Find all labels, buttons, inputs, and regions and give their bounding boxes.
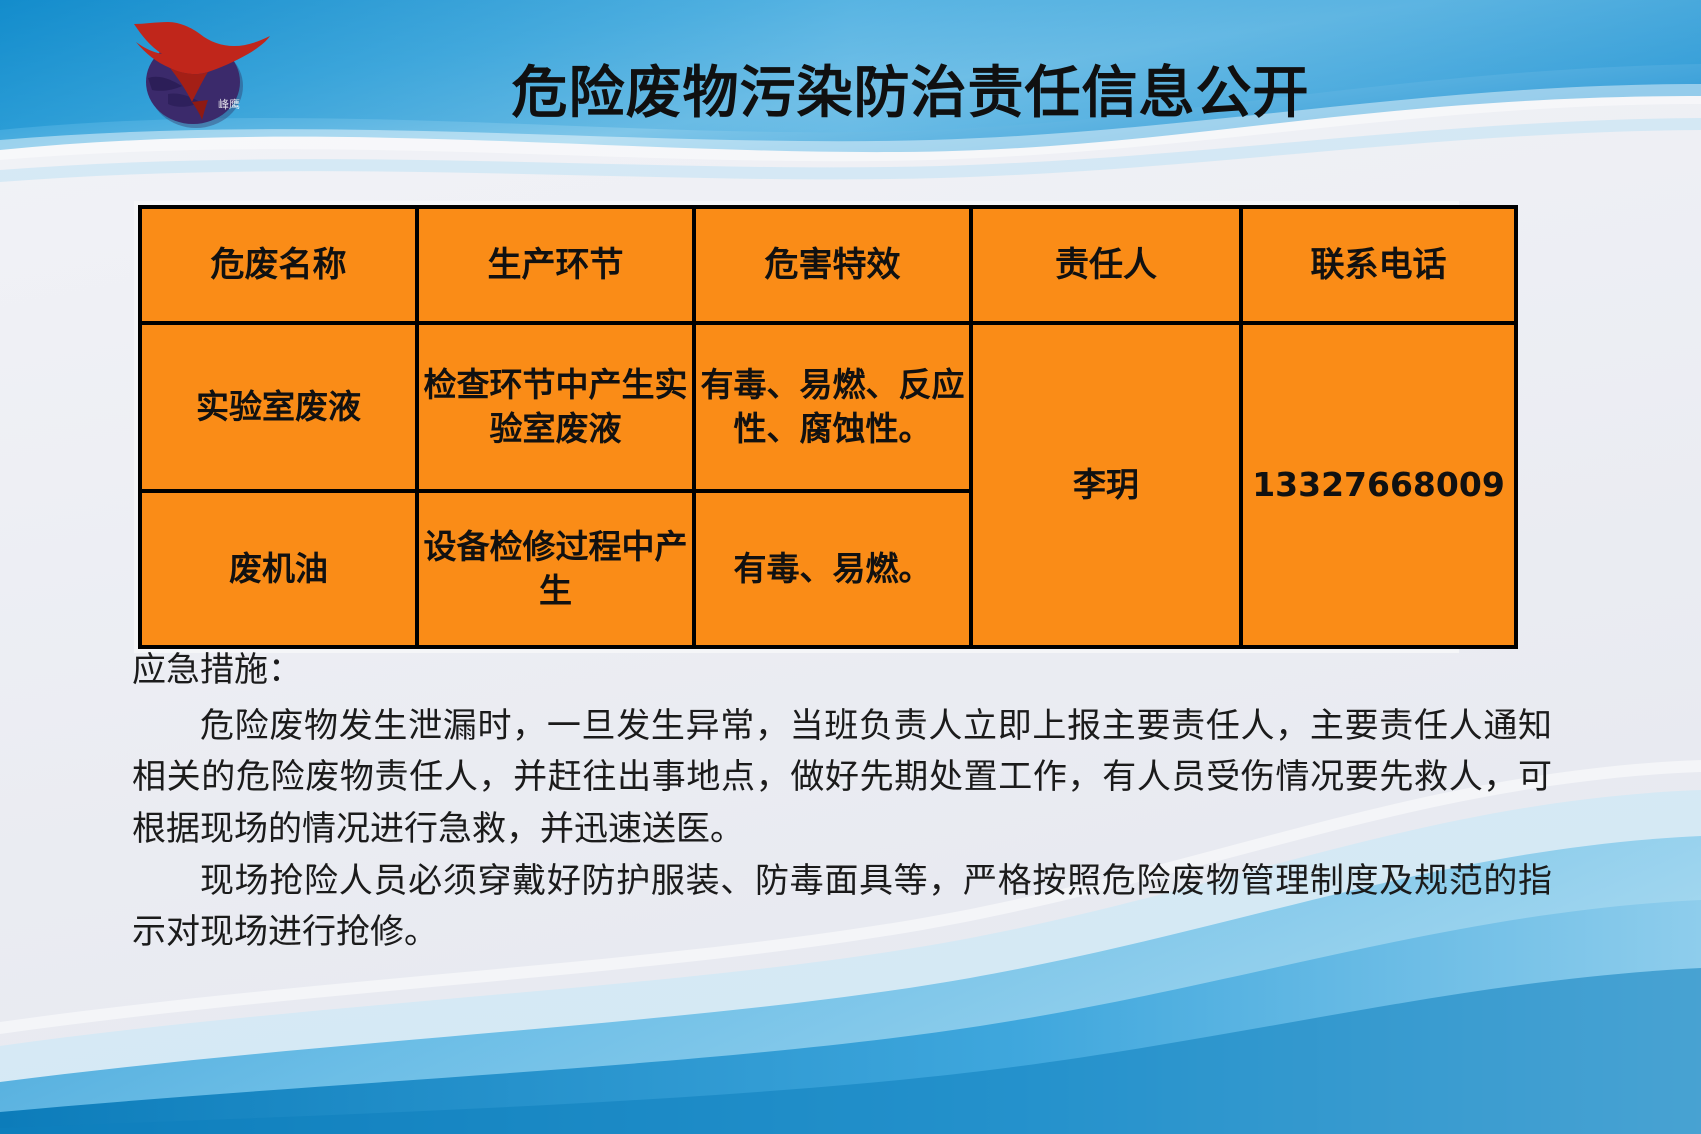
cell-contact-phone: 13327668009: [1241, 323, 1516, 647]
cell-waste-stage: 设备检修过程中产生: [417, 491, 694, 647]
emergency-heading: 应急措施：: [132, 645, 1552, 697]
slide: 峰鹰 危险废物污染防治责任信息公开 危废名称 生产环节 危害特效 责任人 联系电…: [0, 0, 1701, 1134]
column-header-name: 危废名称: [140, 207, 417, 323]
cell-waste-hazard: 有毒、易燃。: [694, 491, 971, 647]
cell-waste-hazard: 有毒、易燃、反应性、腐蚀性。: [694, 323, 971, 491]
hazardous-waste-table: 危废名称 生产环节 危害特效 责任人 联系电话 实验室废液 检查环节中产生实验室…: [138, 205, 1518, 649]
column-header-hazard: 危害特效: [694, 207, 971, 323]
page-title: 危险废物污染防治责任信息公开: [0, 48, 1701, 129]
table-row: 实验室废液 检查环节中产生实验室废液 有毒、易燃、反应性、腐蚀性。 李玥 133…: [140, 323, 1516, 491]
emergency-paragraph-2: 现场抢险人员必须穿戴好防护服装、防毒面具等，严格按照危险废物管理制度及规范的指示…: [132, 856, 1552, 959]
header: 峰鹰 危险废物污染防治责任信息公开: [0, 0, 1701, 160]
column-header-person: 责任人: [971, 207, 1241, 323]
cell-waste-stage: 检查环节中产生实验室废液: [417, 323, 694, 491]
column-header-phone: 联系电话: [1241, 207, 1516, 323]
cell-responsible-person: 李玥: [971, 323, 1241, 647]
table-header-row: 危废名称 生产环节 危害特效 责任人 联系电话: [140, 207, 1516, 323]
emergency-paragraph-1: 危险废物发生泄漏时，一旦发生异常，当班负责人立即上报主要责任人，主要责任人通知相…: [132, 701, 1552, 856]
column-header-stage: 生产环节: [417, 207, 694, 323]
hazardous-waste-table-wrap: 危废名称 生产环节 危害特效 责任人 联系电话 实验室废液 检查环节中产生实验室…: [134, 201, 1459, 653]
emergency-measures: 应急措施： 危险废物发生泄漏时，一旦发生异常，当班负责人立即上报主要责任人，主要…: [132, 645, 1552, 959]
cell-waste-name: 实验室废液: [140, 323, 417, 491]
cell-waste-name: 废机油: [140, 491, 417, 647]
